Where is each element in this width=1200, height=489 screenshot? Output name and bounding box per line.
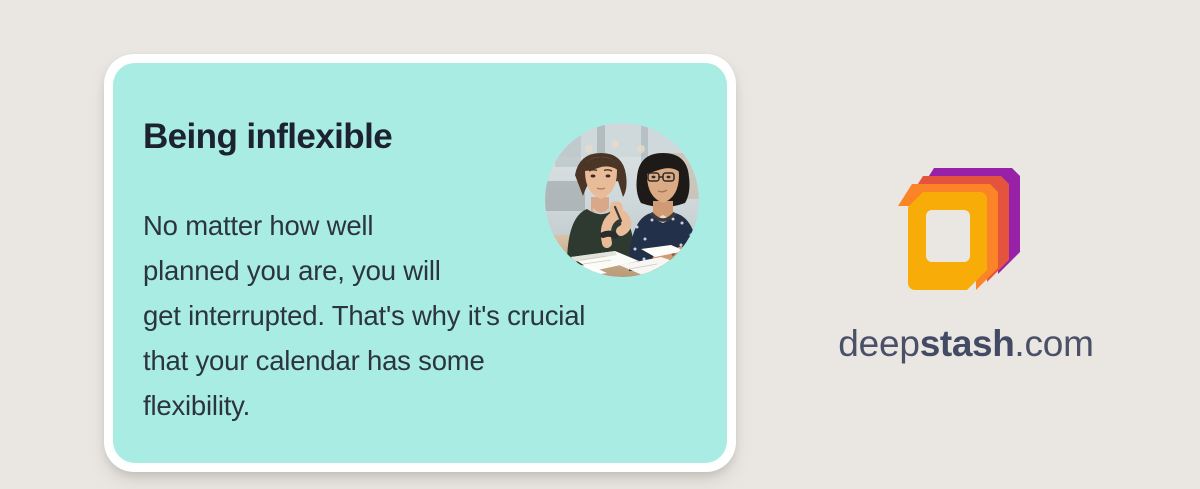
wordmark-deep: deep xyxy=(838,323,920,364)
page-title: Being inflexible xyxy=(143,119,392,154)
idea-card[interactable]: Being inflexible No matter how well plan… xyxy=(104,54,736,472)
body-line: get interrupted. That's why it's crucial xyxy=(143,293,723,338)
wordmark-stash: stash xyxy=(920,323,1015,364)
body-line: that your calendar has some xyxy=(143,338,723,383)
brand-wordmark[interactable]: deepstash.com xyxy=(806,325,1126,362)
wordmark-dotcom: .com xyxy=(1014,323,1093,364)
screenshot-stage: Being inflexible No matter how well plan… xyxy=(0,0,1200,489)
amber-layer xyxy=(908,192,987,290)
idea-card-surface: Being inflexible No matter how well plan… xyxy=(113,63,727,463)
two-women-studying-photo xyxy=(545,123,699,277)
brand-block: deepstash.com xyxy=(806,150,1126,380)
body-line: flexibility. xyxy=(143,383,723,428)
idea-card-content: Being inflexible No matter how well plan… xyxy=(143,63,705,463)
deepstash-stacked-cards-logo[interactable] xyxy=(888,150,1038,302)
